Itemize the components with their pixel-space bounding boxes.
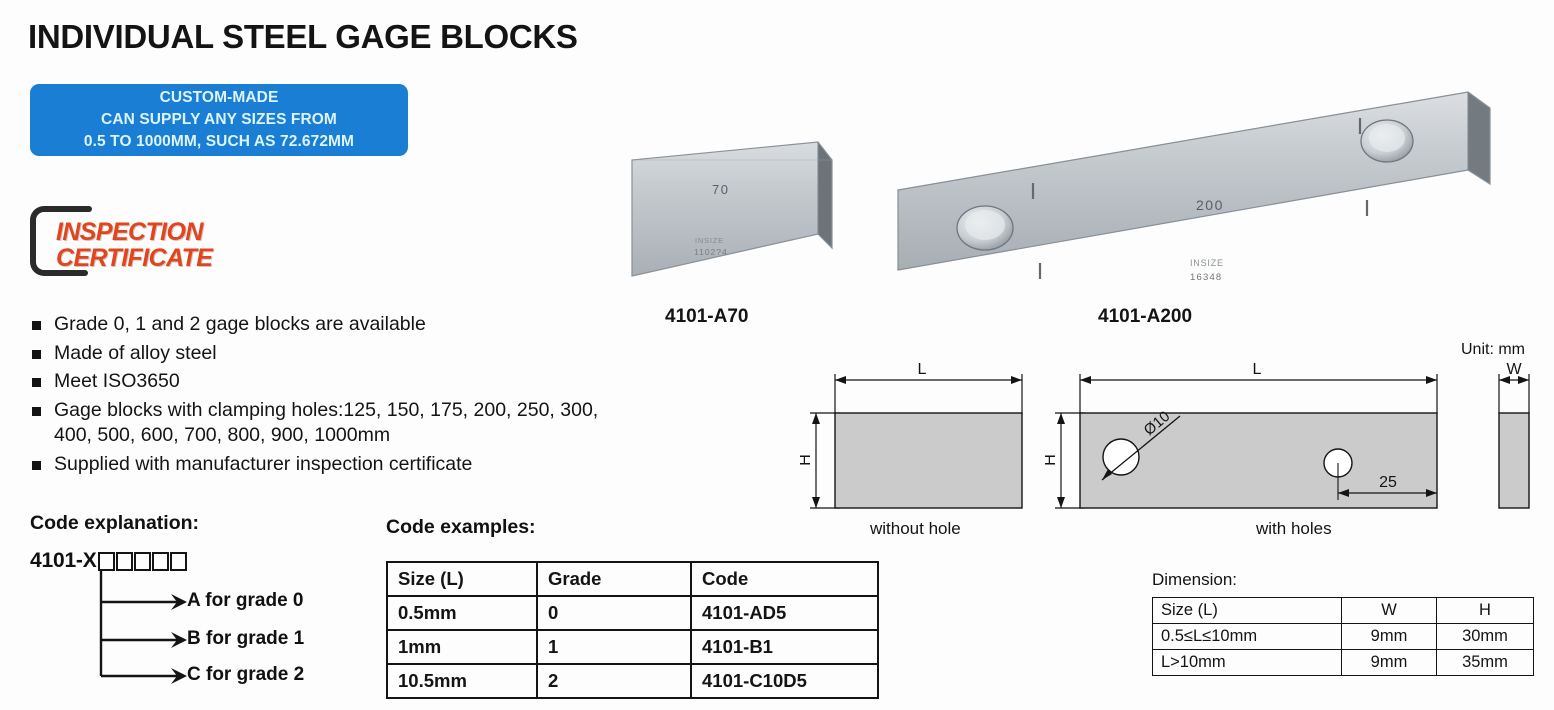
cell-size: 1mm xyxy=(387,630,537,664)
drawing-without-hole: L H xyxy=(800,360,1040,520)
cell-h: 30mm xyxy=(1437,624,1534,650)
block-outline xyxy=(835,413,1022,508)
column-header-grade: Grade xyxy=(537,562,691,596)
inspection-certificate-logo: INSPECTION CERTIFICATE xyxy=(28,204,258,282)
branch-label-b: B for grade 1 xyxy=(187,628,304,650)
cell-size: 0.5≤L≤10mm xyxy=(1153,624,1342,650)
drawing-with-holes: L H Ø10 25 xyxy=(1045,360,1465,520)
engraving-size: 200 xyxy=(1196,197,1224,213)
list-item: Supplied with manufacturer inspection ce… xyxy=(30,452,630,478)
column-header-code: Code xyxy=(691,562,878,596)
dimension-label-L: L xyxy=(1253,361,1262,378)
square-bullet-icon xyxy=(32,378,41,387)
feature-text: Grade 0, 1 and 2 gage blocks are availab… xyxy=(54,313,426,335)
branch-label-a: A for grade 0 xyxy=(187,590,304,612)
badge-line-1: CUSTOM-MADE xyxy=(160,87,279,109)
cell-size: 0.5mm xyxy=(387,596,537,630)
square-bullet-icon xyxy=(32,407,41,416)
drawing-side-view-w: W xyxy=(1490,360,1550,520)
badge-line-2: CAN SUPPLY ANY SIZES FROM xyxy=(101,109,337,131)
caption-with-holes: with holes xyxy=(1256,519,1332,539)
column-header-w: W xyxy=(1342,598,1437,624)
cell-w: 9mm xyxy=(1342,624,1437,650)
cell-grade: 1 xyxy=(537,630,691,664)
engraving-size: 70 xyxy=(712,182,729,197)
dimension-label-W: W xyxy=(1506,361,1522,378)
code-placeholder-box xyxy=(134,552,151,571)
table-row: 0.5mm 0 4101-AD5 xyxy=(387,596,878,630)
square-bullet-icon xyxy=(32,350,41,359)
engraving-brand: INSIZE xyxy=(695,236,724,245)
column-header-h: H xyxy=(1437,598,1534,624)
cell-code: 4101-B1 xyxy=(691,630,878,664)
dimension-label-L: L xyxy=(918,361,927,378)
code-prefix: 4101-X xyxy=(30,549,97,573)
product-photo-a70: 70 INSIZE 1102?4 xyxy=(620,138,850,298)
list-item: Meet ISO3650 xyxy=(30,369,630,395)
product-photo-a200: 200 INSIZE 16348 xyxy=(890,88,1510,293)
engraving-serial: 16348 xyxy=(1190,272,1222,283)
code-explanation-heading: Code explanation: xyxy=(30,512,199,535)
feature-text: Made of alloy steel xyxy=(54,342,217,364)
cell-size: 10.5mm xyxy=(387,664,537,698)
code-placeholder-box xyxy=(170,552,187,571)
dimension-label-25: 25 xyxy=(1379,474,1397,491)
table-header-row: Size (L) Grade Code xyxy=(387,562,878,596)
side-view-outline xyxy=(1499,413,1529,508)
column-header-size: Size (L) xyxy=(387,562,537,596)
feature-text: Supplied with manufacturer inspection ce… xyxy=(54,453,472,475)
dimension-label-H: H xyxy=(1045,454,1059,466)
product-caption-a200: 4101-A200 xyxy=(1098,306,1192,328)
list-item: Made of alloy steel xyxy=(30,341,630,367)
cert-word-certificate: CERTIFICATE xyxy=(56,244,212,273)
cert-word-inspection: INSPECTION xyxy=(56,218,203,247)
code-examples-table: Size (L) Grade Code 0.5mm 0 4101-AD5 1mm… xyxy=(386,561,879,699)
cell-h: 35mm xyxy=(1437,650,1534,676)
feature-text: Gage blocks with clamping holes:125, 150… xyxy=(54,399,598,447)
code-placeholder-box xyxy=(116,552,133,571)
dimension-table-heading: Dimension: xyxy=(1152,570,1237,590)
custom-made-badge: CUSTOM-MADE CAN SUPPLY ANY SIZES FROM 0.… xyxy=(30,84,408,156)
list-item: Gage blocks with clamping holes:125, 150… xyxy=(30,398,630,449)
code-examples-heading: Code examples: xyxy=(386,516,536,539)
caption-without-hole: without hole xyxy=(870,519,961,539)
table-row: 10.5mm 2 4101-C10D5 xyxy=(387,664,878,698)
cell-grade: 0 xyxy=(537,596,691,630)
code-placeholder-box xyxy=(98,552,115,571)
column-header-size: Size (L) xyxy=(1153,598,1342,624)
feature-text: Meet ISO3650 xyxy=(54,370,180,392)
dimension-label-H: H xyxy=(800,454,814,466)
square-bullet-icon xyxy=(32,321,41,330)
branch-label-c: C for grade 2 xyxy=(187,664,304,686)
cell-grade: 2 xyxy=(537,664,691,698)
cell-code: 4101-C10D5 xyxy=(691,664,878,698)
badge-line-3: 0.5 TO 1000MM, SUCH AS 72.672MM xyxy=(84,131,354,153)
table-header-row: Size (L) W H xyxy=(1153,598,1534,624)
engraving-brand: INSIZE xyxy=(1190,258,1224,268)
page-title: INDIVIDUAL STEEL GAGE BLOCKS xyxy=(28,18,578,56)
table-row: L>10mm 9mm 35mm xyxy=(1153,650,1534,676)
product-caption-a70: 4101-A70 xyxy=(665,306,748,328)
list-item: Grade 0, 1 and 2 gage blocks are availab… xyxy=(30,312,630,338)
cell-w: 9mm xyxy=(1342,650,1437,676)
feature-list: Grade 0, 1 and 2 gage blocks are availab… xyxy=(30,312,630,480)
table-row: 0.5≤L≤10mm 9mm 30mm xyxy=(1153,624,1534,650)
cell-code: 4101-AD5 xyxy=(691,596,878,630)
unit-label: Unit: mm xyxy=(1461,341,1525,359)
engraving-serial: 1102?4 xyxy=(694,247,728,257)
square-bullet-icon xyxy=(32,461,41,470)
code-branch-diagram: A for grade 0 B for grade 1 C for grade … xyxy=(95,570,355,690)
dimension-table: Size (L) W H 0.5≤L≤10mm 9mm 30mm L>10mm … xyxy=(1152,597,1534,676)
table-row: 1mm 1 4101-B1 xyxy=(387,630,878,664)
code-placeholder-box xyxy=(152,552,169,571)
cell-size: L>10mm xyxy=(1153,650,1342,676)
catalog-page: INDIVIDUAL STEEL GAGE BLOCKS CUSTOM-MADE… xyxy=(0,0,1554,710)
